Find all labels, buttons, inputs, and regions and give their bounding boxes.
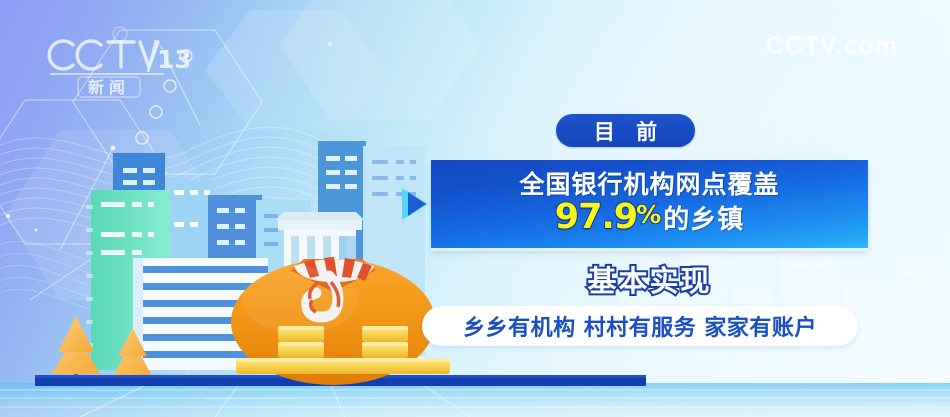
banner-line-1: 全国银行机构网点覆盖	[519, 171, 779, 198]
broadcast-graphic-screen: 13 新闻 CCTV.com	[0, 0, 950, 417]
percent-value: 97.9	[555, 198, 637, 237]
badge-label: 目 前	[587, 116, 664, 146]
headline-banner: 全国银行机构网点覆盖 97.9%的乡镇	[431, 160, 868, 248]
subheadline: 基本实现	[431, 258, 868, 300]
status-badge: 目 前	[556, 114, 695, 147]
percent-suffix: 的乡镇	[663, 206, 744, 235]
banner-line-2: 97.9%的乡镇	[555, 198, 744, 237]
subheadline-text: 基本实现	[587, 264, 711, 298]
summary-pill: 乡乡有机构 村村有服务 家家有账户	[422, 306, 858, 346]
percent-sign: %	[636, 201, 661, 229]
summary-pill-text: 乡乡有机构 村村有服务 家家有账户	[463, 310, 817, 342]
grid-floor	[0, 383, 950, 417]
